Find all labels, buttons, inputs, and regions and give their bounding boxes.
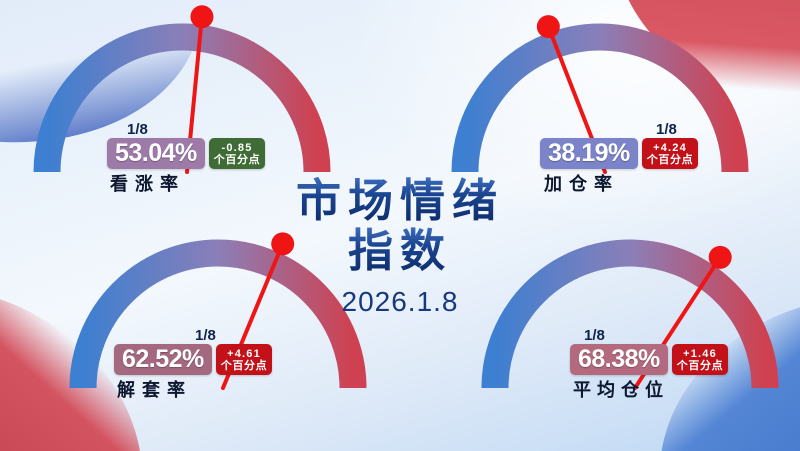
title-line-2: 指数 [0,226,800,276]
gauge-value-2: 38.19% [540,138,638,169]
gauge-fraction-1: 1/8 [127,121,148,138]
gauge-fraction-3: 1/8 [195,327,216,344]
gauge-change-unit-1: 个百分点 [214,155,260,166]
gauge-change-value-4: +1.46 [683,349,717,360]
gauge-value-3: 62.52% [114,344,212,375]
gauge-change-value-3: +4.61 [227,349,261,360]
gauge-change-badge-1: -0.85 个百分点 [209,138,265,169]
gauge-change-unit-2: 个百分点 [647,155,693,166]
gauge-value-4: 68.38% [570,344,668,375]
gauge-change-badge-4: +1.46 个百分点 [672,344,728,375]
center-title-block: 市场情绪 指数 2026.1.8 [0,176,800,318]
gauge-value-1: 53.04% [107,138,205,169]
gauge-fraction-2: 1/8 [656,121,677,138]
gauge-label-3: 解套率 [117,376,192,402]
gauge-needle-knob-1 [190,5,213,28]
gauge-change-value-2: +4.24 [653,143,687,154]
gauge-change-unit-3: 个百分点 [221,361,267,372]
gauge-needle-knob-2 [537,15,560,38]
gauge-change-unit-4: 个百分点 [677,361,723,372]
gauge-fraction-4: 1/8 [584,327,605,344]
gauge-change-badge-2: +4.24 个百分点 [642,138,698,169]
sentiment-dashboard: 1/8 53.04% -0.85 个百分点 看涨率 1/8 38.19% +4.… [0,0,800,451]
gauge-change-badge-3: +4.61 个百分点 [216,344,272,375]
gauge-label-4: 平均仓位 [573,376,669,402]
gauge-change-value-1: -0.85 [221,143,252,154]
title-date: 2026.1.8 [0,286,800,318]
title-line-1: 市场情绪 [0,176,800,226]
